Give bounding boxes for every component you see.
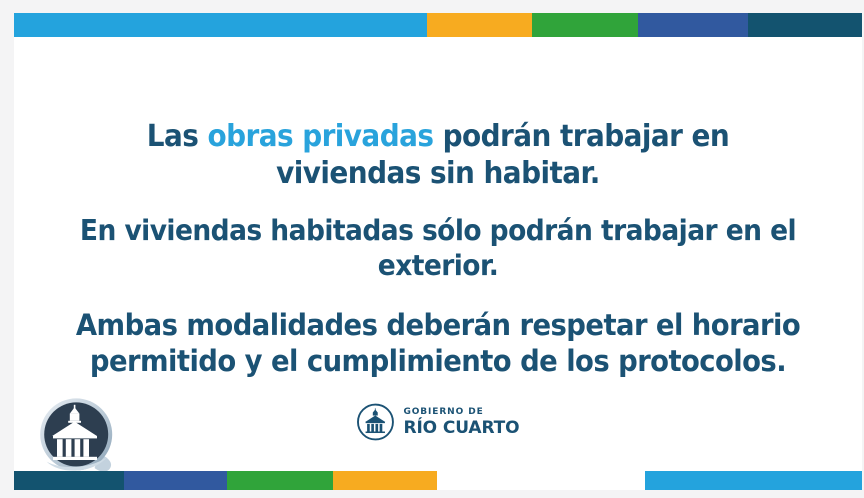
gov-logo-line-bottom: RÍO CUARTO [403,420,519,437]
top-bar-segment-dark-teal [748,13,862,37]
message-paragraph-3: Ambas modalidades deberán respetar el ho… [75,308,800,380]
top-color-bar [14,13,862,37]
message-paragraph-1: Las obras privadas podrán trabajar en vi… [75,119,800,192]
gov-logo-text: GOBIERNO DE RÍO CUARTO [403,408,519,437]
message-paragraph-2: En viviendas habitadas sólo podrán traba… [75,214,800,284]
top-bar-segment-green [532,13,638,37]
municipal-building-crest-icon [36,396,118,476]
municipal-crest-logo [36,396,118,476]
slide-canvas: Las obras privadas podrán trabajar en vi… [14,13,862,490]
bottom-bar-gap [437,471,645,490]
paragraph-1-highlight: obras privadas [207,119,433,154]
top-bar-segment-blue [638,13,748,37]
gobierno-rio-cuarto-logo: GOBIERNO DE RÍO CUARTO [356,403,519,441]
bottom-bar-segment-dark-teal [14,471,124,490]
bottom-bar-segment-green [227,471,333,490]
paragraph-1-before: Las [147,119,208,154]
top-bar-segment-orange [427,13,532,37]
bottom-bar-segment-light-blue [645,471,862,490]
gov-logo-line-top: GOBIERNO DE [403,408,519,417]
message-block: Las obras privadas podrán trabajar en vi… [14,37,862,461]
bottom-color-bar [14,471,862,490]
gobierno-building-icon [356,403,394,441]
top-bar-segment-light-blue [14,13,427,37]
bottom-bar-segment-blue [124,471,227,490]
bottom-bar-segment-orange [333,471,437,490]
